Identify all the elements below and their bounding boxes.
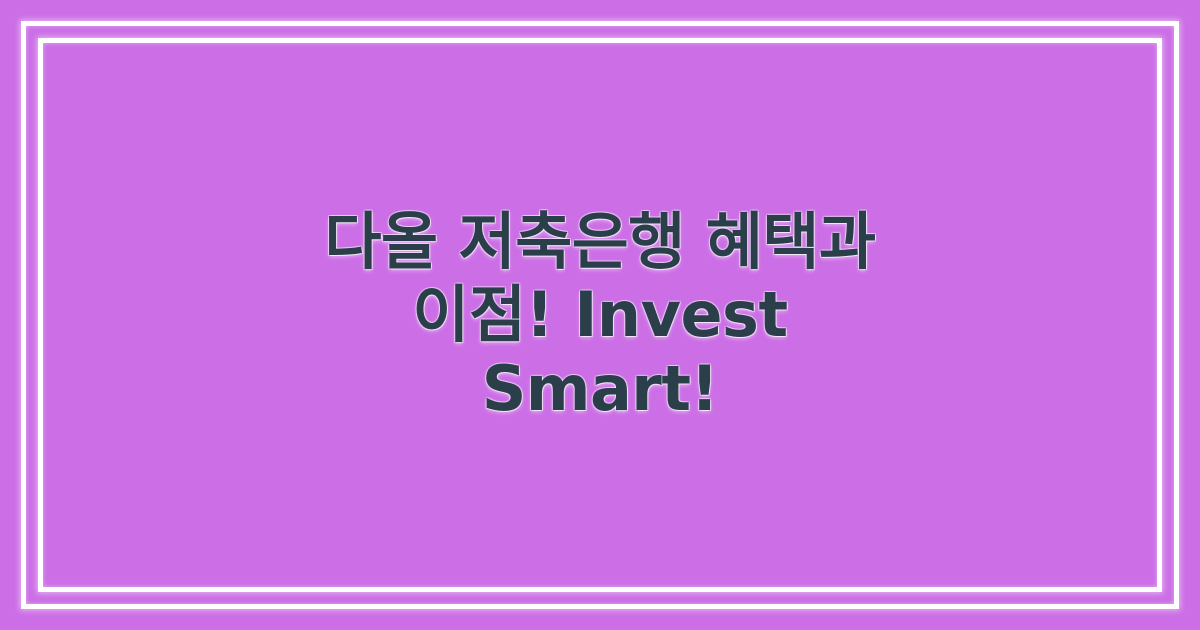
page-title-line-1: 다올 저축은행 혜택과 (120, 205, 1080, 278)
page-title: 다올 저축은행 혜택과 이점! Invest Smart! (120, 205, 1080, 424)
headline-container: 다올 저축은행 혜택과 이점! Invest Smart! (0, 0, 1200, 630)
page-title-line-3: Smart! (120, 352, 1080, 425)
page-title-line-2: 이점! Invest (120, 278, 1080, 351)
poster-canvas: 다올 저축은행 혜택과 이점! Invest Smart! (0, 0, 1200, 630)
